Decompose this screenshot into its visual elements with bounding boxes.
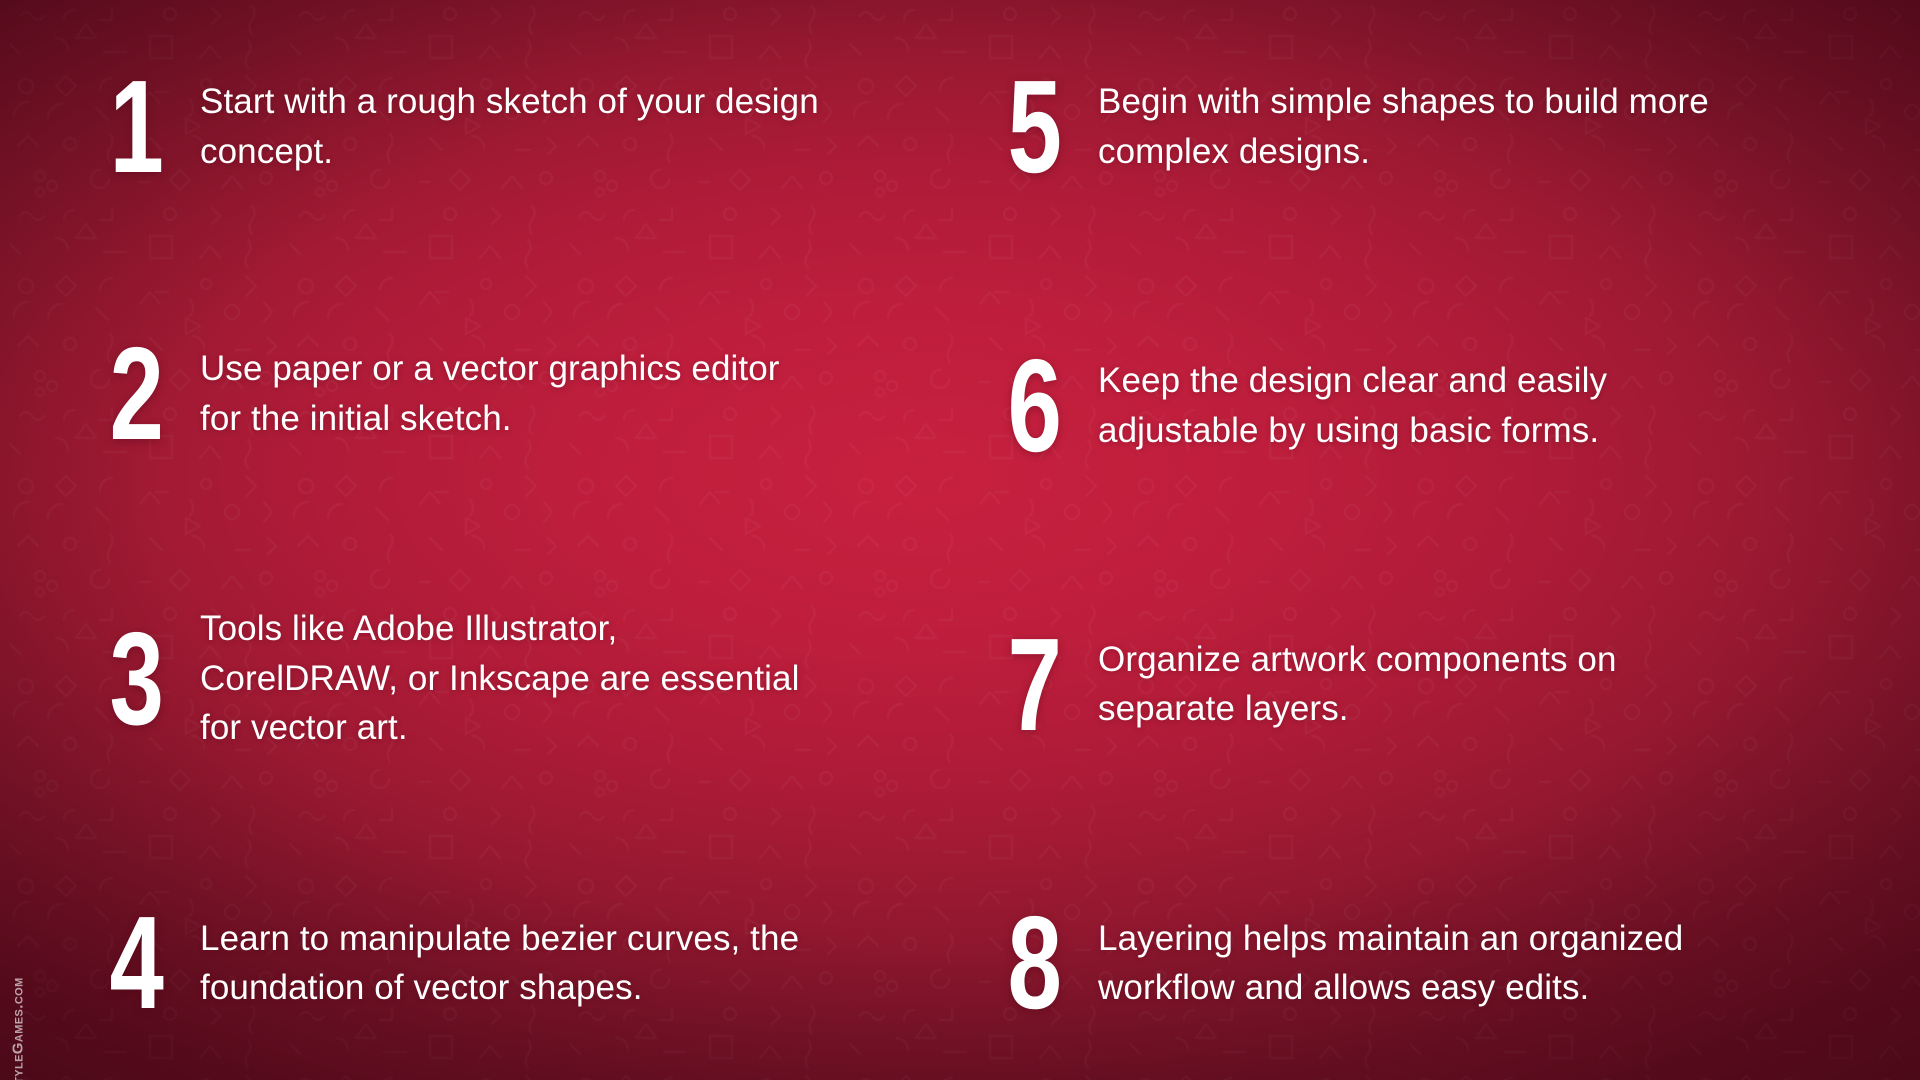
step-number: 2 <box>102 337 170 451</box>
step-number: 8 <box>1000 906 1068 1020</box>
step-number: 3 <box>102 622 170 736</box>
step-item: 7 Organize artwork components on separat… <box>988 628 1860 742</box>
step-number: 5 <box>1000 70 1068 184</box>
step-text: Keep the design clear and easily adjusta… <box>1098 356 1738 455</box>
step-item: 5 Begin with simple shapes to build more… <box>988 70 1860 184</box>
step-item: 2 Use paper or a vector graphics editor … <box>90 337 962 451</box>
step-item: 1 Start with a rough sketch of your desi… <box>90 70 962 184</box>
step-text: Use paper or a vector graphics editor fo… <box>200 344 820 443</box>
step-text: Tools like Adobe Illustrator, CorelDRAW,… <box>200 604 820 753</box>
step-text: Layering helps maintain an organized wor… <box>1098 914 1738 1013</box>
right-column: 5 Begin with simple shapes to build more… <box>988 70 1860 1020</box>
step-number: 7 <box>1000 628 1068 742</box>
step-item: 4 Learn to manipulate bezier curves, the… <box>90 906 962 1020</box>
step-item: 3 Tools like Adobe Illustrator, CorelDRA… <box>90 604 962 753</box>
step-text: Begin with simple shapes to build more c… <box>1098 77 1738 176</box>
left-column: 1 Start with a rough sketch of your desi… <box>90 70 962 1020</box>
step-item: 8 Layering helps maintain an organized w… <box>988 906 1860 1020</box>
step-text: Organize artwork components on separate … <box>1098 635 1738 734</box>
step-number: 4 <box>102 906 170 1020</box>
step-number: 1 <box>102 70 170 184</box>
step-text: Start with a rough sketch of your design… <box>200 77 820 176</box>
step-number: 6 <box>1000 349 1068 463</box>
steps-grid: 1 Start with a rough sketch of your desi… <box>0 0 1920 1080</box>
infographic-slide: 1 Start with a rough sketch of your desi… <box>0 0 1920 1080</box>
step-item: 6 Keep the design clear and easily adjus… <box>988 349 1860 463</box>
step-text: Learn to manipulate bezier curves, the f… <box>200 914 820 1013</box>
